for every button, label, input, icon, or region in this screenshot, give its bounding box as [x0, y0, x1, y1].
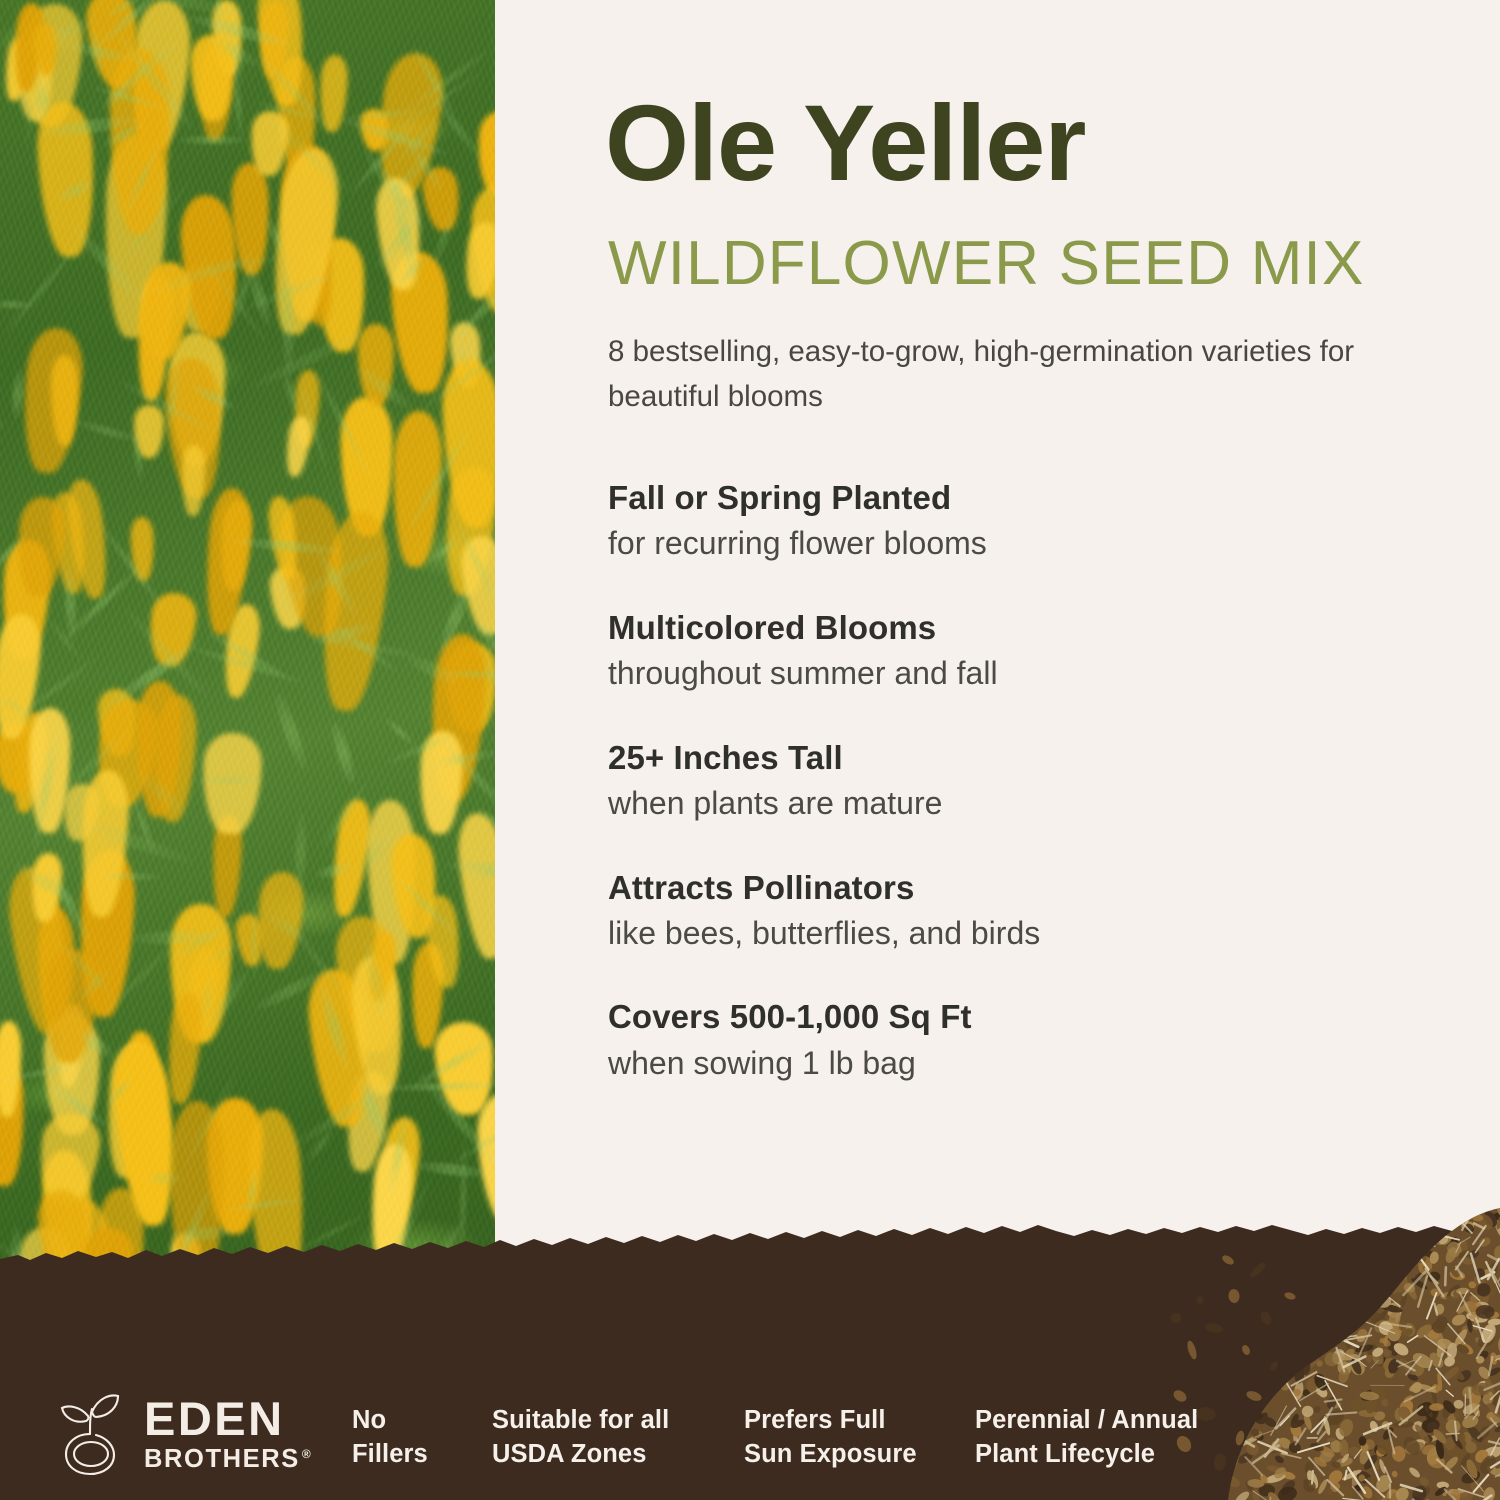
- seed: [1261, 1340, 1284, 1357]
- seed-chaff-bristle: [1495, 1473, 1500, 1477]
- seed: [1251, 1333, 1266, 1347]
- seed: [1237, 1301, 1243, 1311]
- product-infographic: Ole Yeller WILDFLOWER SEED MIX 8 bestsel…: [0, 0, 1500, 1500]
- seed: [1237, 1290, 1253, 1308]
- seed: [1448, 1487, 1469, 1498]
- seed: [1380, 1303, 1403, 1314]
- seed: [1308, 1301, 1332, 1326]
- seed: [1352, 1302, 1365, 1317]
- feature-subtext: when plants are mature: [608, 783, 1368, 825]
- seed: [1469, 1293, 1481, 1305]
- seed: [1489, 1352, 1497, 1365]
- feature-subtext: when sowing 1 lb bag: [608, 1043, 1368, 1085]
- seed-chaff-bristle: [1357, 1286, 1366, 1295]
- loose-seed: [1258, 1310, 1273, 1327]
- footer-attribute-line1: Prefers Full: [744, 1404, 917, 1438]
- seed: [1272, 1300, 1289, 1315]
- seed: [1316, 1360, 1323, 1367]
- seed-chaff-bristle: [1397, 1361, 1415, 1371]
- seed: [1268, 1314, 1280, 1333]
- seed: [1427, 1350, 1446, 1371]
- seed-chaff-bristle: [1369, 1288, 1380, 1293]
- seed: [1400, 1321, 1417, 1339]
- seed: [1418, 1485, 1432, 1500]
- seed: [1233, 1286, 1256, 1308]
- seed: [1370, 1349, 1387, 1367]
- seed: [1410, 1483, 1429, 1500]
- feature-item: 25+ Inches Tallwhen plants are mature: [608, 738, 1368, 825]
- seed: [1374, 1485, 1388, 1500]
- seed: [1385, 1326, 1402, 1344]
- seed-chaff-bristle: [1277, 1322, 1296, 1340]
- seed: [1373, 1318, 1393, 1335]
- seed: [1476, 1365, 1492, 1382]
- seed: [1339, 1353, 1359, 1362]
- seed: [1229, 1327, 1249, 1349]
- seed: [1293, 1362, 1305, 1383]
- seed-chaff-bristle: [1401, 1485, 1422, 1491]
- seed: [1381, 1317, 1406, 1341]
- seed: [1306, 1366, 1321, 1383]
- content-column: Ole Yeller WILDFLOWER SEED MIX 8 bestsel…: [495, 0, 1500, 1500]
- seed-chaff-bristle: [1337, 1348, 1345, 1371]
- seed: [1281, 1337, 1295, 1349]
- seed-chaff-bristle: [1496, 1350, 1500, 1360]
- seed: [1423, 1330, 1432, 1340]
- seed: [1469, 1314, 1477, 1320]
- seed: [1224, 1315, 1246, 1335]
- seed: [1300, 1336, 1312, 1350]
- seed: [1295, 1353, 1312, 1377]
- seed-chaff-bristle: [1250, 1320, 1268, 1337]
- seed: [1372, 1348, 1393, 1359]
- seed: [1460, 1324, 1470, 1334]
- seed: [1394, 1304, 1403, 1323]
- seed: [1238, 1363, 1250, 1375]
- footer-attribute-line2: Sun Exposure: [744, 1438, 917, 1472]
- seed: [1291, 1307, 1305, 1324]
- seed: [1277, 1345, 1293, 1361]
- seed: [1366, 1309, 1389, 1329]
- seed: [1475, 1330, 1497, 1350]
- seed: [1378, 1336, 1392, 1348]
- seed: [1355, 1295, 1374, 1316]
- seed: [1385, 1301, 1402, 1318]
- seed: [1436, 1481, 1449, 1489]
- footer-attribute-line2: Plant Lifecycle: [975, 1438, 1198, 1472]
- seed: [1483, 1325, 1494, 1336]
- seed: [1386, 1334, 1401, 1357]
- seed: [1354, 1343, 1374, 1354]
- product-lede: 8 bestselling, easy-to-grow, high-germin…: [608, 330, 1368, 420]
- footer-attribute-line1: Perennial / Annual: [975, 1404, 1198, 1438]
- seed: [1455, 1342, 1470, 1356]
- seed-chaff-bristle: [1341, 1352, 1358, 1361]
- seed: [1329, 1311, 1345, 1325]
- seed: [1268, 1299, 1285, 1314]
- feature-heading: 25+ Inches Tall: [608, 738, 1368, 778]
- seed: [1372, 1489, 1385, 1500]
- seed: [1381, 1356, 1398, 1374]
- seed: [1252, 1489, 1260, 1500]
- seed: [1308, 1342, 1313, 1357]
- seed-chaff-bristle: [1356, 1359, 1366, 1367]
- seed: [1321, 1288, 1341, 1306]
- seed: [1330, 1305, 1345, 1325]
- seed: [1373, 1491, 1389, 1500]
- seed: [1410, 1350, 1435, 1372]
- seed-chaff-bristle: [1445, 1490, 1455, 1500]
- wildflower-field-photo: [0, 0, 495, 1345]
- feature-subtext: for recurring flower blooms: [608, 523, 1368, 565]
- seed-chaff-bristle: [1371, 1360, 1378, 1368]
- seed: [1474, 1336, 1485, 1346]
- seed: [1364, 1297, 1376, 1309]
- seed: [1486, 1366, 1500, 1378]
- seed: [1453, 1490, 1474, 1500]
- seed-chaff-bristle: [1344, 1289, 1355, 1291]
- seed-chaff-bristle: [1239, 1324, 1256, 1329]
- seed: [1487, 1284, 1500, 1300]
- feature-subtext: throughout summer and fall: [608, 653, 1368, 695]
- loose-seed: [1284, 1291, 1297, 1301]
- seed: [1456, 1302, 1471, 1316]
- seed: [1234, 1334, 1254, 1352]
- seed: [1254, 1289, 1272, 1303]
- footer-attribute: Perennial / AnnualPlant Lifecycle: [975, 1404, 1198, 1472]
- seed-chaff-bristle: [1272, 1338, 1296, 1346]
- seed: [1445, 1295, 1461, 1303]
- seed: [1259, 1473, 1270, 1485]
- seed: [1345, 1283, 1367, 1303]
- seed: [1433, 1485, 1448, 1498]
- seed: [1412, 1496, 1423, 1500]
- seed: [1258, 1302, 1269, 1317]
- seed-chaff-bristle: [1278, 1304, 1298, 1305]
- seed: [1323, 1351, 1340, 1368]
- footer-attribute-line2: Fillers: [352, 1438, 428, 1472]
- seed: [1266, 1360, 1281, 1375]
- footer-attribute-line1: Suitable for all: [492, 1404, 669, 1438]
- seed: [1366, 1295, 1383, 1307]
- seed: [1380, 1329, 1396, 1349]
- seed: [1264, 1472, 1286, 1485]
- seed: [1397, 1356, 1418, 1377]
- seed-chaff-bristle: [1366, 1480, 1385, 1497]
- seed: [1303, 1479, 1313, 1485]
- seed: [1468, 1477, 1487, 1500]
- loose-seed: [1228, 1288, 1240, 1303]
- seed: [1363, 1343, 1373, 1363]
- seed: [1291, 1338, 1308, 1355]
- feature-item: Covers 500-1,000 Sq Ftwhen sowing 1 lb b…: [608, 997, 1368, 1084]
- seed: [1365, 1476, 1377, 1488]
- seed: [1371, 1341, 1386, 1354]
- seed: [1336, 1486, 1356, 1500]
- seed-chaff-bristle: [1257, 1323, 1269, 1328]
- seed: [1398, 1320, 1409, 1332]
- seed: [1436, 1337, 1453, 1350]
- seed-chaff-bristle: [1249, 1299, 1265, 1311]
- seed-chaff-bristle: [1324, 1311, 1333, 1339]
- seed: [1376, 1294, 1391, 1308]
- seed: [1270, 1282, 1292, 1304]
- seed-chaff-bristle: [1312, 1471, 1313, 1484]
- seed: [1353, 1484, 1362, 1493]
- seed: [1257, 1371, 1265, 1379]
- seed-chaff-bristle: [1383, 1323, 1411, 1327]
- seed: [1265, 1344, 1285, 1360]
- footer-attribute: Prefers FullSun Exposure: [744, 1404, 917, 1472]
- seed: [1441, 1365, 1461, 1383]
- seed-chaff-bristle: [1216, 1357, 1243, 1363]
- seed-chaff-bristle: [1471, 1293, 1480, 1301]
- seed-chaff-bristle: [1476, 1496, 1491, 1500]
- seed: [1469, 1322, 1480, 1331]
- seed-chaff-bristle: [1284, 1347, 1308, 1366]
- seed: [1478, 1322, 1498, 1346]
- seed: [1461, 1299, 1485, 1317]
- footer-bar: EDEN BROTHERS ® NoFillersSuitable for al…: [0, 1285, 1500, 1500]
- seed: [1435, 1342, 1447, 1359]
- seed-chaff-bristle: [1345, 1341, 1358, 1347]
- footer-attribute: NoFillers: [352, 1404, 428, 1472]
- seed-chaff-bristle: [1337, 1335, 1358, 1337]
- seed: [1430, 1319, 1447, 1335]
- seed: [1442, 1355, 1456, 1369]
- seed: [1232, 1344, 1251, 1363]
- seed-chaff-bristle: [1435, 1304, 1438, 1315]
- seed-chaff-bristle: [1474, 1475, 1489, 1492]
- seed-chaff-bristle: [1283, 1343, 1290, 1355]
- seed-chaff-bristle: [1406, 1357, 1421, 1375]
- seed: [1229, 1323, 1235, 1343]
- feature-heading: Fall or Spring Planted: [608, 478, 1368, 518]
- seed: [1375, 1291, 1391, 1307]
- seed: [1310, 1336, 1322, 1348]
- loose-seed: [1186, 1340, 1199, 1361]
- seed: [1444, 1282, 1462, 1301]
- seed: [1386, 1309, 1402, 1331]
- seed: [1400, 1327, 1414, 1338]
- seed: [1355, 1327, 1369, 1341]
- seed-chaff-bristle: [1473, 1326, 1492, 1331]
- seed: [1418, 1475, 1430, 1487]
- loose-seed: [1196, 1295, 1204, 1305]
- seed: [1349, 1357, 1364, 1376]
- seed: [1427, 1327, 1446, 1348]
- seed-chaff-bristle: [1327, 1480, 1343, 1495]
- seed: [1392, 1341, 1411, 1358]
- product-title: Ole Yeller: [605, 88, 1085, 198]
- seed: [1267, 1286, 1285, 1298]
- seed: [1233, 1489, 1251, 1500]
- seed-chaff-bristle: [1427, 1293, 1437, 1319]
- seed: [1268, 1366, 1278, 1376]
- feature-heading: Attracts Pollinators: [608, 868, 1368, 908]
- seed: [1449, 1288, 1462, 1301]
- seed-chaff-bristle: [1353, 1487, 1363, 1499]
- seed: [1369, 1292, 1381, 1306]
- seed: [1356, 1335, 1366, 1343]
- seed-chaff-bristle: [1260, 1364, 1268, 1370]
- seed: [1482, 1486, 1496, 1500]
- seed-chaff-bristle: [1429, 1361, 1432, 1370]
- seed: [1230, 1297, 1247, 1320]
- seed: [1475, 1305, 1495, 1320]
- seed: [1407, 1373, 1419, 1383]
- seed-chaff-bristle: [1448, 1324, 1465, 1344]
- footer-attribute: Suitable for allUSDA Zones: [492, 1404, 669, 1472]
- seed: [1376, 1318, 1396, 1338]
- seed: [1279, 1478, 1298, 1497]
- seed: [1258, 1484, 1275, 1497]
- seed: [1274, 1286, 1295, 1304]
- seed-chaff-bristle: [1439, 1354, 1443, 1366]
- feature-item: Attracts Pollinatorslike bees, butterfli…: [608, 868, 1368, 955]
- seed: [1295, 1329, 1316, 1344]
- seed: [1450, 1367, 1466, 1382]
- seed: [1252, 1342, 1263, 1354]
- seed: [1346, 1337, 1353, 1349]
- seed-chaff-bristle: [1340, 1335, 1371, 1341]
- loose-seed: [1241, 1344, 1252, 1356]
- seed: [1357, 1473, 1366, 1482]
- seed: [1390, 1493, 1398, 1500]
- seed: [1348, 1303, 1359, 1315]
- loose-seed: [1268, 1360, 1279, 1372]
- seed: [1424, 1328, 1440, 1340]
- seed: [1299, 1348, 1323, 1373]
- seed: [1276, 1484, 1299, 1500]
- feature-list: Fall or Spring Plantedfor recurring flow…: [608, 478, 1368, 1084]
- feature-item: Multicolored Bloomsthroughout summer and…: [608, 608, 1368, 695]
- feature-heading: Covers 500-1,000 Sq Ft: [608, 997, 1368, 1037]
- seed: [1348, 1358, 1367, 1378]
- seed: [1360, 1484, 1374, 1500]
- seed-chaff-bristle: [1253, 1491, 1280, 1500]
- seed: [1469, 1288, 1492, 1311]
- seed: [1381, 1496, 1402, 1500]
- footer-attributes: NoFillersSuitable for allUSDA ZonesPrefe…: [0, 1382, 1500, 1472]
- seed: [1249, 1355, 1262, 1366]
- seed: [1266, 1490, 1283, 1500]
- seed: [1424, 1320, 1435, 1332]
- seed: [1285, 1317, 1299, 1339]
- seed: [1269, 1299, 1287, 1316]
- seed: [1393, 1485, 1411, 1500]
- seed-chaff-bristle: [1347, 1288, 1356, 1289]
- seed: [1385, 1487, 1400, 1500]
- seed: [1309, 1285, 1325, 1298]
- seed: [1365, 1342, 1380, 1357]
- seed-chaff-bristle: [1364, 1282, 1381, 1305]
- seed: [1242, 1285, 1254, 1291]
- seed: [1292, 1314, 1305, 1332]
- seed-chaff-bristle: [1476, 1318, 1484, 1341]
- seed: [1446, 1342, 1458, 1360]
- seed: [1317, 1478, 1329, 1495]
- seed: [1305, 1305, 1315, 1322]
- seed: [1247, 1479, 1265, 1489]
- seed: [1456, 1340, 1476, 1357]
- seed-chaff-bristle: [1425, 1336, 1451, 1356]
- seed: [1231, 1333, 1249, 1352]
- seed-chaff-bristle: [1489, 1357, 1492, 1375]
- seed: [1285, 1333, 1296, 1354]
- seed: [1391, 1358, 1400, 1368]
- seed: [1452, 1328, 1469, 1349]
- seed: [1373, 1472, 1394, 1494]
- seed: [1434, 1303, 1445, 1315]
- seed: [1363, 1304, 1375, 1317]
- seed: [1387, 1358, 1401, 1375]
- seed: [1472, 1285, 1484, 1297]
- seed: [1338, 1329, 1347, 1338]
- seed: [1291, 1290, 1306, 1311]
- seed: [1330, 1347, 1347, 1366]
- seed: [1301, 1477, 1319, 1495]
- seed: [1219, 1472, 1242, 1490]
- seed: [1335, 1358, 1354, 1378]
- seed: [1476, 1301, 1489, 1308]
- seed: [1381, 1288, 1389, 1298]
- seed: [1450, 1312, 1467, 1327]
- seed: [1399, 1292, 1409, 1310]
- seed: [1488, 1318, 1500, 1326]
- seed: [1344, 1347, 1356, 1357]
- photo-grain-overlay: [0, 0, 495, 1345]
- seed: [1375, 1353, 1388, 1367]
- seed-chaff-bristle: [1460, 1292, 1471, 1314]
- seed: [1300, 1290, 1315, 1305]
- seed-chaff-bristle: [1458, 1489, 1484, 1497]
- seed: [1440, 1291, 1457, 1301]
- seed: [1472, 1304, 1482, 1325]
- seed: [1414, 1322, 1434, 1341]
- seed: [1289, 1340, 1300, 1351]
- seed: [1339, 1285, 1360, 1297]
- seed: [1456, 1287, 1470, 1294]
- seed: [1373, 1308, 1390, 1324]
- seed: [1430, 1288, 1442, 1298]
- seed: [1238, 1353, 1258, 1372]
- feature-item: Fall or Spring Plantedfor recurring flow…: [608, 478, 1368, 565]
- seed-chaff-bristle: [1247, 1352, 1267, 1362]
- feature-subtext: like bees, butterflies, and birds: [608, 913, 1368, 955]
- footer-attribute-line2: USDA Zones: [492, 1438, 669, 1472]
- seed: [1228, 1309, 1241, 1327]
- seed: [1452, 1288, 1464, 1299]
- seed: [1346, 1355, 1361, 1371]
- seed: [1398, 1363, 1408, 1378]
- seed-chaff-bristle: [1273, 1294, 1293, 1310]
- product-subtitle: WILDFLOWER SEED MIX: [608, 233, 1365, 295]
- seed: [1435, 1315, 1449, 1329]
- seed: [1354, 1297, 1369, 1312]
- seed: [1474, 1349, 1490, 1363]
- seed-chaff-bristle: [1334, 1335, 1357, 1340]
- seed-chaff-bristle: [1344, 1357, 1365, 1367]
- seed: [1487, 1311, 1499, 1319]
- seed-chaff-bristle: [1477, 1332, 1493, 1358]
- seed-chaff-bristle: [1457, 1291, 1468, 1311]
- seed: [1467, 1293, 1479, 1304]
- seed: [1371, 1346, 1385, 1359]
- seed: [1328, 1480, 1342, 1494]
- seed: [1348, 1484, 1368, 1496]
- loose-seed: [1170, 1311, 1183, 1325]
